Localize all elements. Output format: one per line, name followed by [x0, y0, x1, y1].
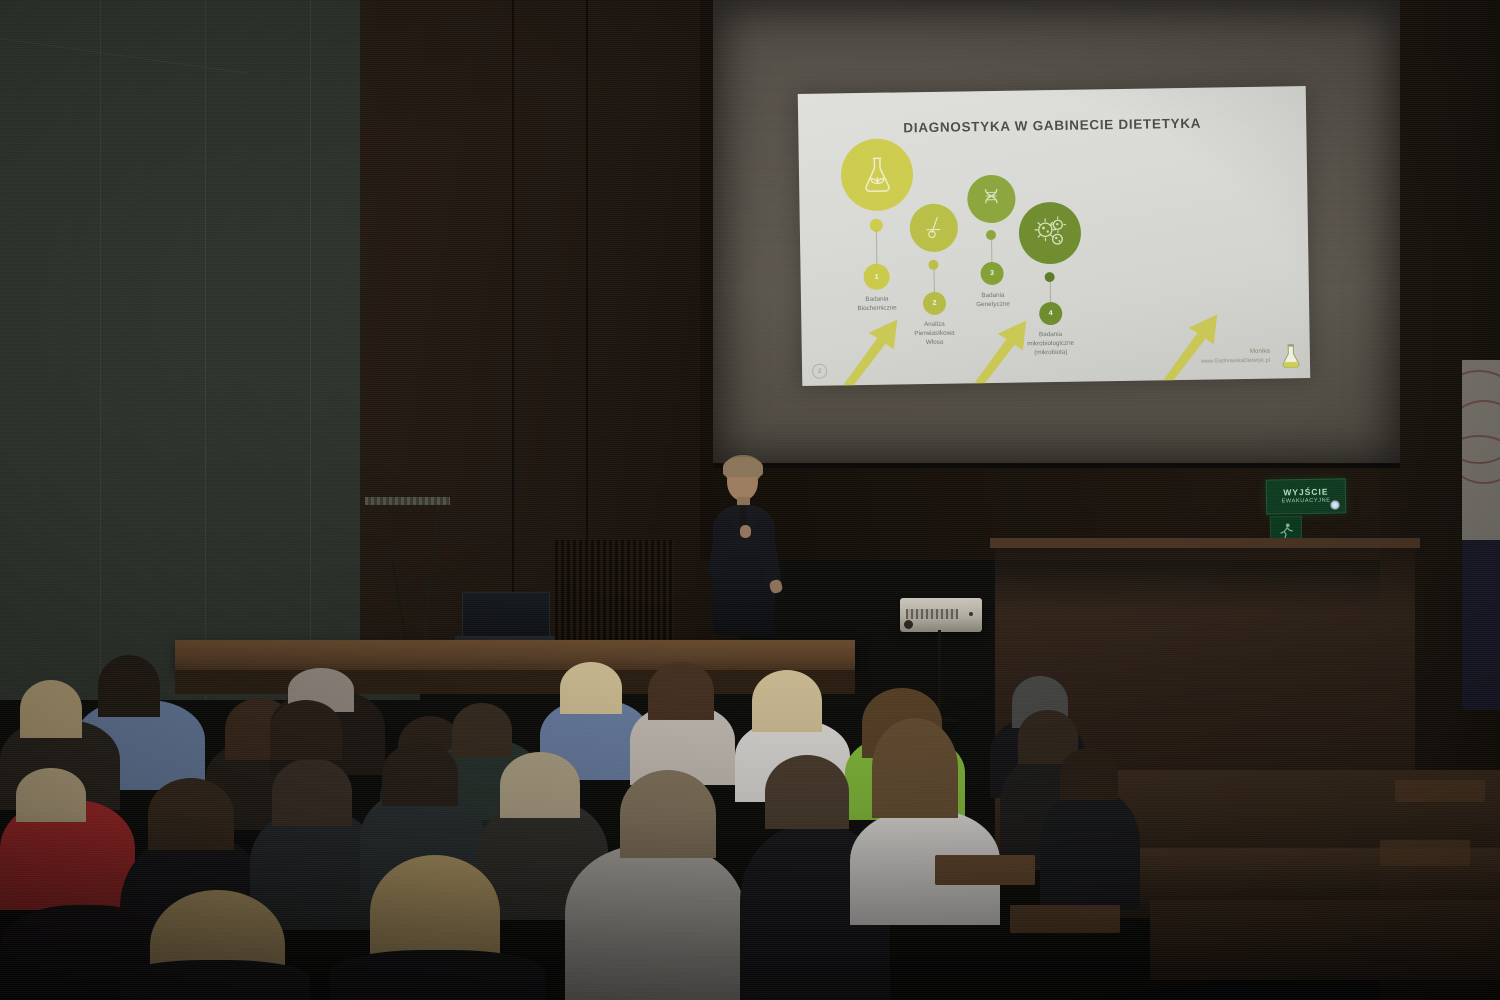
step-4-stem	[1050, 282, 1051, 304]
step-2-stem	[934, 270, 935, 294]
center-wood-wall	[360, 0, 740, 660]
auditorium-seat	[1395, 780, 1485, 802]
audience-member	[620, 770, 716, 858]
audience-member	[120, 960, 310, 1000]
step-4-connector-dot	[1045, 272, 1055, 282]
step-3-label: Badania Genetyczne	[947, 290, 1039, 310]
audience-member	[148, 778, 234, 850]
slide-credit: Monika www.GadnowskaDietetyk.pl	[1201, 347, 1270, 366]
presenter-hand-with-mic	[740, 525, 751, 538]
audience-member	[565, 845, 745, 1000]
step-3-number: 3	[980, 262, 1003, 285]
right-blue-panel	[1462, 540, 1500, 710]
radiator	[552, 540, 674, 640]
right-banner	[1462, 360, 1500, 540]
step-1-bubble	[840, 138, 913, 211]
presentation-slide: DIAGNOSTYKA W GABINECIE DIETETYKA 1 Bada…	[798, 86, 1311, 386]
audience-member	[752, 670, 822, 732]
presenter-hair-top	[723, 457, 763, 477]
audience-member	[872, 718, 958, 818]
step-2-number: 2	[923, 292, 946, 315]
step-1-number: 1	[863, 264, 889, 290]
projector	[900, 598, 982, 632]
presenter	[700, 455, 790, 645]
arrow-graphic-2	[966, 308, 1037, 386]
step-4-bubble	[1018, 202, 1081, 265]
audience-member	[500, 752, 580, 818]
audience-member	[330, 950, 545, 1000]
podium-top-edge	[990, 538, 1420, 548]
lecture-hall-photo: DIAGNOSTYKA W GABINECIE DIETETYKA 1 Bada…	[0, 0, 1500, 1000]
presenter-laptop[interactable]	[462, 592, 550, 639]
exit-sign-line2: EWAKUACYJNE	[1282, 499, 1331, 505]
credit-name: Monika	[1201, 347, 1270, 357]
audience-member	[648, 662, 714, 720]
audience-member	[270, 700, 342, 760]
step-4-number: 4	[1039, 302, 1062, 325]
exit-sign-line1: WYJŚCIE	[1283, 488, 1328, 497]
slide-number-badge: 2	[812, 364, 827, 379]
projector-led-icon	[969, 612, 973, 616]
arrow-graphic-3	[1157, 302, 1228, 383]
audience-member	[560, 662, 622, 714]
audience-member	[20, 680, 82, 738]
step-3-bubble	[967, 175, 1016, 224]
stage-step-lower	[1150, 900, 1500, 980]
audience-member	[1040, 790, 1140, 910]
step-2-bubble	[909, 204, 958, 253]
step-3-stem	[991, 240, 992, 264]
flask-logo-icon	[1278, 342, 1304, 370]
slide-title: DIAGNOSTYKA W GABINECIE DIETETYKA	[798, 114, 1306, 137]
step-2-connector-dot	[928, 260, 938, 270]
audience-member	[765, 755, 849, 829]
audience-member	[16, 768, 86, 822]
hair-follicle-icon	[919, 213, 949, 243]
credit-website: www.GadnowskaDietetyk.pl	[1201, 356, 1270, 365]
projector-lens-icon	[904, 620, 913, 629]
step-3-connector-dot	[986, 230, 996, 240]
flask-leaf-icon	[854, 152, 899, 197]
projector-vent	[906, 609, 958, 619]
audience-member	[1060, 748, 1118, 800]
audience-member	[452, 703, 512, 757]
light-reflection	[1330, 500, 1340, 510]
audience-member	[272, 758, 352, 826]
auditorium-seat	[1380, 840, 1470, 866]
left-wall-panel	[0, 0, 420, 700]
auditorium-seat	[1010, 905, 1120, 933]
bacteria-microbe-icon	[1030, 214, 1069, 253]
arrow-graphic-1	[837, 307, 908, 386]
auditorium-seat	[935, 855, 1035, 885]
step-1-stem	[876, 231, 878, 267]
wall-vent	[365, 497, 450, 505]
audience-member	[382, 742, 458, 806]
audience-member	[98, 655, 160, 717]
dna-helix-icon	[976, 184, 1006, 214]
